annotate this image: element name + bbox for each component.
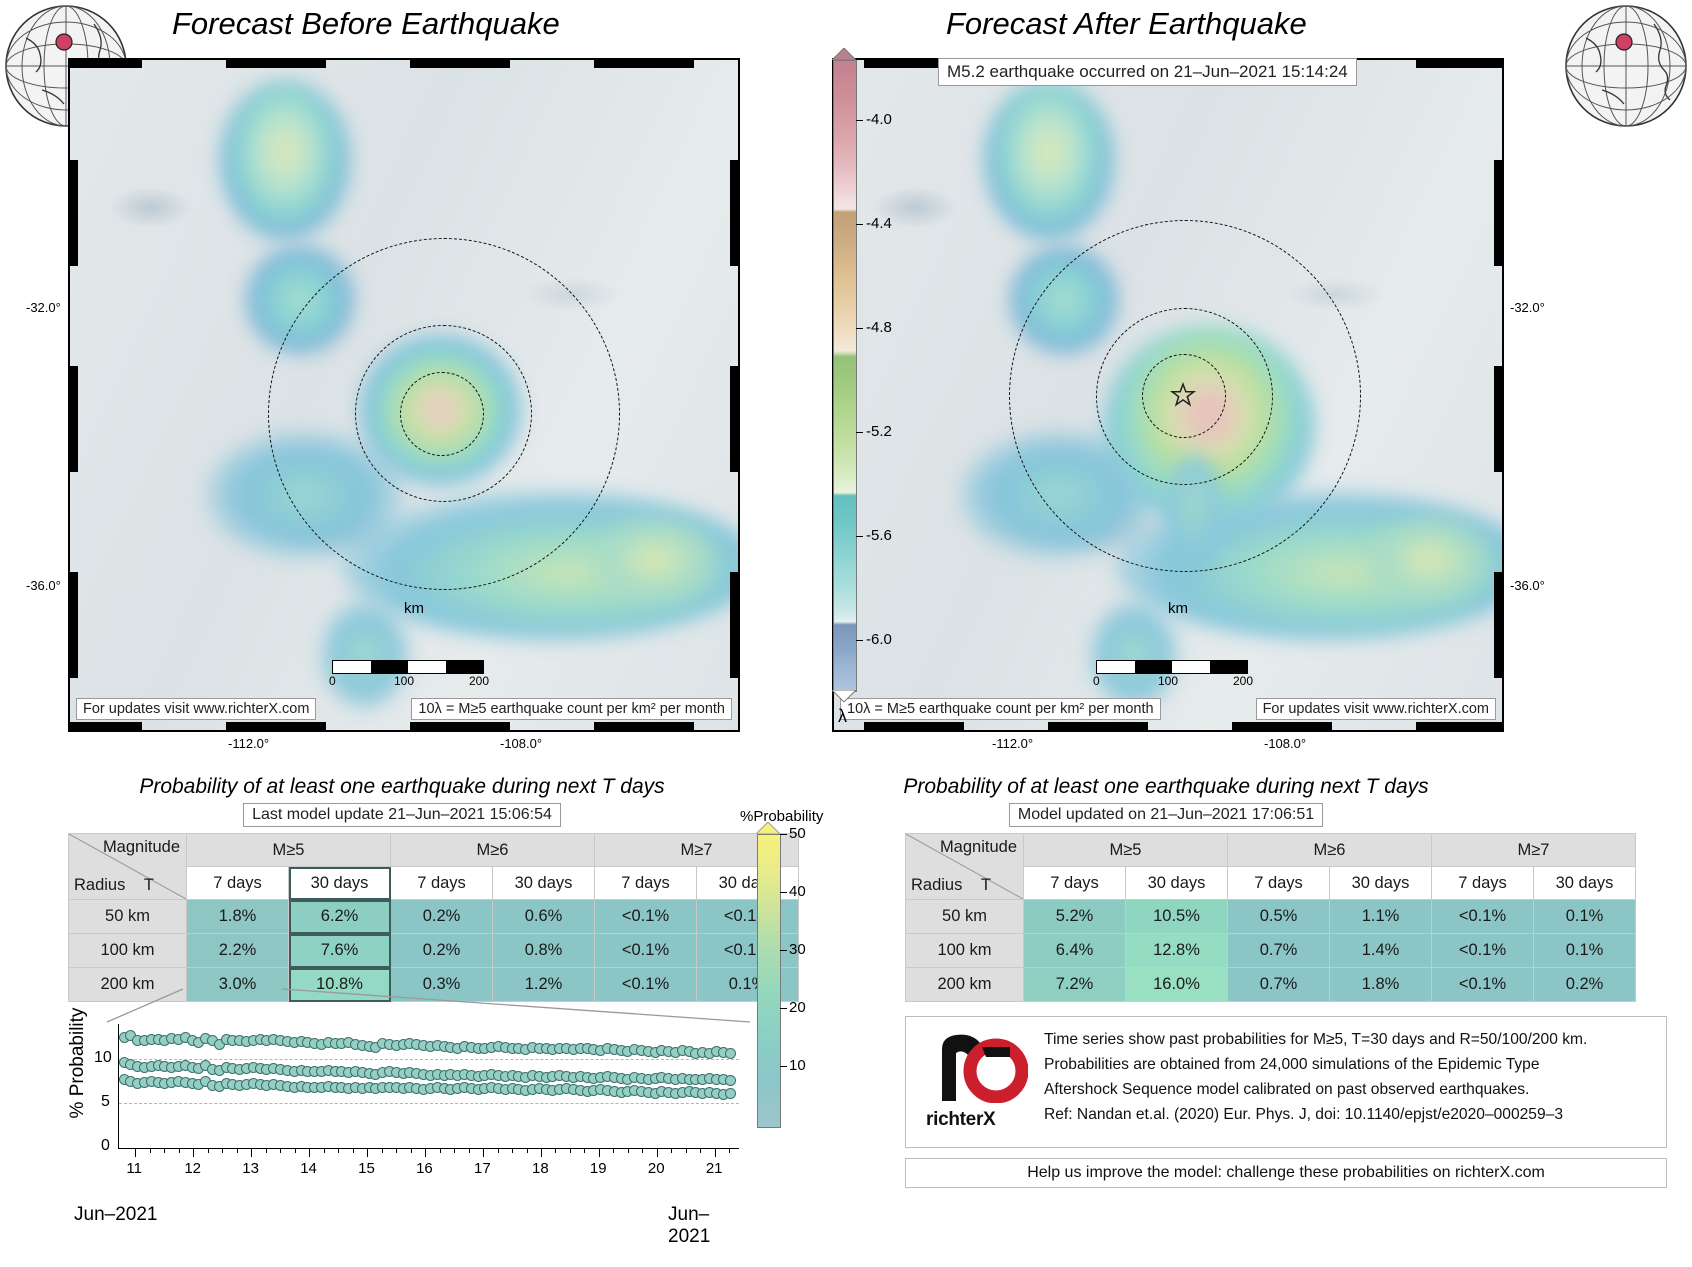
x-tick-layer: 1112131415161718192021 xyxy=(118,1148,738,1184)
prob-cell: <0.1% xyxy=(1432,934,1534,968)
prob-cell: 6.2% xyxy=(289,900,391,934)
time-col-header: 7 days xyxy=(595,867,697,900)
x-minor-tick xyxy=(613,1148,614,1153)
frame-tick-left xyxy=(70,160,78,266)
x-minor-tick xyxy=(440,1148,441,1153)
x-tick-label: 11 xyxy=(126,1160,142,1177)
y-tick-5: 5 xyxy=(101,1093,110,1111)
magnitude-group-m6: M≥6 xyxy=(391,834,595,867)
time-col-header: 30 days xyxy=(289,867,391,900)
prob-cell: 0.5% xyxy=(1228,900,1330,934)
frame-tick-top xyxy=(70,60,142,68)
lat-label-right-32: -32.0° xyxy=(1510,300,1545,315)
timeseries-point xyxy=(725,1088,736,1099)
x-tick-label: 16 xyxy=(416,1160,433,1177)
frame-tick-right xyxy=(1494,160,1502,266)
x-major-tick xyxy=(483,1148,484,1157)
hazard-blob xyxy=(590,515,720,605)
timeseries-dots-layer xyxy=(119,1024,739,1148)
colorbar-tick-label: -6.0 xyxy=(866,631,892,648)
table-row: 50 km 1.8% 6.2% 0.2% 0.6% <0.1% <0.1% xyxy=(69,900,799,934)
table-row: 50 km 5.2% 10.5% 0.5% 1.1% <0.1% 0.1% xyxy=(906,900,1636,934)
frame-tick-left xyxy=(70,366,78,472)
frame-tick-right xyxy=(1494,366,1502,472)
prob-colorbar-top-arrow xyxy=(756,822,780,834)
hazard-blob xyxy=(220,80,350,240)
prob-tick xyxy=(780,1066,787,1067)
radius-circle-200km xyxy=(268,238,620,590)
frame-tick-bottom xyxy=(864,722,964,730)
x-minor-tick xyxy=(498,1148,499,1153)
frame-tick-bottom xyxy=(226,722,326,730)
frame-tick-right xyxy=(1494,572,1502,678)
table-header-row: Magnitude Radius T M≥5 M≥6 M≥7 xyxy=(906,834,1636,867)
x-minor-tick xyxy=(411,1148,412,1153)
info-line-1: Time series show past probabilities for … xyxy=(1044,1027,1587,1052)
prob-tick-label: 20 xyxy=(789,999,806,1016)
corner-magnitude-label: Magnitude xyxy=(940,838,1017,857)
left-panel-title: Forecast Before Earthquake xyxy=(172,6,560,42)
table-header-row: Magnitude Radius T M≥5 M≥6 M≥7 xyxy=(69,834,799,867)
x-minor-tick xyxy=(382,1148,383,1153)
corner-t-label: T xyxy=(981,876,991,895)
lon-label-right-108: -108.0° xyxy=(1264,736,1306,751)
x-major-tick xyxy=(541,1148,542,1157)
prob-cell: <0.1% xyxy=(697,900,799,934)
x-minor-tick xyxy=(164,1148,165,1153)
time-col-header: 7 days xyxy=(1024,867,1126,900)
prob-cell: 0.6% xyxy=(493,900,595,934)
colorbar-tick xyxy=(856,536,863,537)
help-box[interactable]: Help us improve the model: challenge the… xyxy=(905,1158,1667,1188)
prob-tick-label: 30 xyxy=(789,941,806,958)
scale-tick-200: 200 xyxy=(469,674,489,688)
scale-bar-title: km xyxy=(404,600,424,617)
forecast-map-before[interactable]: km 0 100 200 For updates visit www.richt… xyxy=(68,58,740,732)
left-update-box-wrap: Last model update 21–Jun–2021 15:06:54 xyxy=(68,803,736,827)
prob-cell: 1.4% xyxy=(1330,934,1432,968)
y-tick-10: 10 xyxy=(94,1049,112,1067)
time-col-header: 7 days xyxy=(187,867,289,900)
x-major-tick xyxy=(135,1148,136,1157)
time-col-header: 7 days xyxy=(1432,867,1534,900)
prob-cell: <0.1% xyxy=(1432,968,1534,1002)
left-table-section-title: Probability of at least one earthquake d… xyxy=(68,775,736,799)
right-panel-title: Forecast After Earthquake xyxy=(946,6,1307,42)
event-banner: M5.2 earthquake occurred on 21–Jun–2021 … xyxy=(938,58,1357,86)
lon-label-left-112: -112.0° xyxy=(228,736,269,751)
x-minor-tick xyxy=(555,1148,556,1153)
frame-tick-top xyxy=(410,60,510,68)
prob-cell: 0.7% xyxy=(1228,968,1330,1002)
time-col-header: 30 days xyxy=(697,867,799,900)
left-update-box: Last model update 21–Jun–2021 15:06:54 xyxy=(243,803,561,827)
x-minor-tick xyxy=(295,1148,296,1153)
magnitude-group-m5: M≥5 xyxy=(187,834,391,867)
frame-tick-right xyxy=(730,366,738,472)
prob-cell: 16.0% xyxy=(1126,968,1228,1002)
x-major-tick xyxy=(599,1148,600,1157)
prob-tick-label: 50 xyxy=(789,825,806,842)
time-col-header: 30 days xyxy=(1330,867,1432,900)
row-radius-label: 50 km xyxy=(906,900,1024,934)
x-minor-tick xyxy=(686,1148,687,1153)
x-minor-tick xyxy=(454,1148,455,1153)
x-major-tick xyxy=(425,1148,426,1157)
frame-tick-bottom xyxy=(70,722,142,730)
row-radius-label: 100 km xyxy=(906,934,1024,968)
x-minor-tick xyxy=(324,1148,325,1153)
prob-cell: 0.2% xyxy=(1534,968,1636,1002)
lat-label-right-36: -36.0° xyxy=(1510,578,1545,593)
scale-bar-title: km xyxy=(1168,600,1188,617)
scale-bar xyxy=(1096,660,1248,674)
colorbar-tick-label: -5.6 xyxy=(866,527,892,544)
x-major-tick xyxy=(367,1148,368,1157)
prob-colorbar xyxy=(757,834,781,1128)
colorbar-tick xyxy=(856,120,863,121)
frame-tick-right xyxy=(730,572,738,678)
info-line-3: Aftershock Sequence model calibrated on … xyxy=(1044,1077,1529,1102)
table-row: 100 km 6.4% 12.8% 0.7% 1.4% <0.1% 0.1% xyxy=(906,934,1636,968)
x-major-tick xyxy=(309,1148,310,1157)
x-major-tick xyxy=(251,1148,252,1157)
x-minor-tick xyxy=(150,1148,151,1153)
x-minor-tick xyxy=(584,1148,585,1153)
x-axis-label-right: Jun–2021 xyxy=(668,1204,746,1248)
time-col-header: 30 days xyxy=(493,867,595,900)
lon-label-right-112: -112.0° xyxy=(992,736,1033,751)
prob-cell: 1.1% xyxy=(1330,900,1432,934)
prob-cell: 0.7% xyxy=(1228,934,1330,968)
scale-tick-0: 0 xyxy=(329,674,336,688)
prob-cell: 0.2% xyxy=(391,900,493,934)
right-table-section-title: Probability of at least one earthquake d… xyxy=(832,775,1500,799)
prob-cell: <0.1% xyxy=(1432,900,1534,934)
colorbar-tick-label: -4.4 xyxy=(866,215,892,232)
frame-tick-right xyxy=(730,160,738,266)
x-minor-tick xyxy=(700,1148,701,1153)
right-probability-table[interactable]: Magnitude Radius T M≥5 M≥6 M≥7 7 days 30… xyxy=(905,833,1636,1002)
prob-colorbar-title: %Probability xyxy=(740,808,823,825)
x-major-tick xyxy=(193,1148,194,1157)
colorbar-tick xyxy=(856,640,863,641)
frame-tick-bottom xyxy=(1232,722,1332,730)
rate-legend-note-left: 10λ = M≥5 earthquake count per km² per m… xyxy=(411,698,732,720)
time-col-header: 7 days xyxy=(391,867,493,900)
corner-t-label: T xyxy=(144,876,154,895)
x-tick-label: 18 xyxy=(532,1160,549,1177)
x-minor-tick xyxy=(469,1148,470,1153)
prob-tick-label: 40 xyxy=(789,883,806,900)
lon-label-left-108: -108.0° xyxy=(500,736,542,751)
richterx-logo xyxy=(934,1031,1028,1108)
frame-tick-top xyxy=(1416,60,1502,68)
x-tick-label: 12 xyxy=(184,1160,201,1177)
frame-tick-top xyxy=(594,60,694,68)
colorbar-tick xyxy=(856,224,863,225)
plot-area xyxy=(118,1024,739,1149)
x-minor-tick xyxy=(671,1148,672,1153)
x-minor-tick xyxy=(208,1148,209,1153)
x-minor-tick xyxy=(222,1148,223,1153)
y-tick-0: 0 xyxy=(101,1137,110,1155)
info-line-4: Ref: Nandan et.al. (2020) Eur. Phys. J, … xyxy=(1044,1102,1563,1127)
time-col-header: 30 days xyxy=(1126,867,1228,900)
info-box: richterX Time series show past probabili… xyxy=(905,1016,1667,1148)
x-tick-label: 19 xyxy=(590,1160,607,1177)
magnitude-group-m5: M≥5 xyxy=(1024,834,1228,867)
x-minor-tick xyxy=(237,1148,238,1153)
lat-label-left-36: -36.0° xyxy=(26,578,61,593)
magnitude-group-m7: M≥7 xyxy=(1432,834,1636,867)
colorbar-top-arrow xyxy=(832,48,856,60)
colorbar-tick-label: -5.2 xyxy=(866,423,892,440)
right-update-box: Model updated on 21–Jun–2021 17:06:51 xyxy=(1009,803,1323,827)
x-minor-tick xyxy=(512,1148,513,1153)
x-minor-tick xyxy=(570,1148,571,1153)
right-update-box-wrap: Model updated on 21–Jun–2021 17:06:51 xyxy=(832,803,1500,827)
x-tick-label: 17 xyxy=(474,1160,491,1177)
scale-tick-0: 0 xyxy=(1093,674,1100,688)
x-major-tick xyxy=(715,1148,716,1157)
timeseries-point xyxy=(725,1075,736,1086)
x-tick-label: 13 xyxy=(242,1160,259,1177)
frame-tick-bottom xyxy=(1416,722,1502,730)
info-line-2: Probabilities are obtained from 24,000 s… xyxy=(1044,1052,1540,1077)
colorbar-tick-label: -4.0 xyxy=(866,111,892,128)
frame-tick-bottom xyxy=(1048,722,1148,730)
y-axis-label: % Probability xyxy=(67,983,89,1143)
prob-cell: 7.2% xyxy=(1024,968,1126,1002)
x-minor-tick xyxy=(628,1148,629,1153)
magnitude-group-m6: M≥6 xyxy=(1228,834,1432,867)
x-minor-tick xyxy=(266,1148,267,1153)
x-minor-tick xyxy=(729,1148,730,1153)
time-col-header: 30 days xyxy=(1534,867,1636,900)
prob-tick xyxy=(780,950,787,951)
prob-tick-label: 10 xyxy=(789,1057,806,1074)
scale-tick-100: 100 xyxy=(1158,674,1178,688)
x-minor-tick xyxy=(280,1148,281,1153)
row-radius-label: 200 km xyxy=(906,968,1024,1002)
lat-label-left-32: -32.0° xyxy=(26,300,61,315)
colorbar-tick-label: -4.8 xyxy=(866,319,892,336)
hazard-blob xyxy=(320,600,410,710)
updates-note-right: For updates visit www.richterX.com xyxy=(1256,698,1496,720)
prob-cell: 5.2% xyxy=(1024,900,1126,934)
frame-tick-left xyxy=(70,572,78,678)
x-minor-tick xyxy=(353,1148,354,1153)
prob-cell: <0.1% xyxy=(595,900,697,934)
corner-radius-label: Radius xyxy=(911,876,962,895)
rate-colorbar xyxy=(833,60,857,692)
x-tick-label: 21 xyxy=(706,1160,723,1177)
richterx-wordmark: richterX xyxy=(926,1109,995,1131)
prob-tick xyxy=(780,892,787,893)
colorbar-tick xyxy=(856,432,863,433)
prob-tick xyxy=(780,834,787,835)
x-minor-tick xyxy=(338,1148,339,1153)
rate-legend-note-right: 10λ = M≥5 earthquake count per km² per m… xyxy=(840,698,1161,720)
prob-cell: 0.1% xyxy=(1534,900,1636,934)
colorbar-bottom-arrow xyxy=(832,690,856,702)
timeseries-point xyxy=(725,1048,736,1059)
x-axis-label-left: Jun–2021 xyxy=(74,1204,157,1226)
table-corner-cell: Magnitude Radius T xyxy=(906,834,1024,900)
prob-cell: 0.1% xyxy=(1534,934,1636,968)
x-minor-tick xyxy=(527,1148,528,1153)
scale-bar xyxy=(332,660,484,674)
forecast-map-after[interactable]: km 0 100 200 10λ = M≥5 earthquake count … xyxy=(832,58,1504,732)
x-tick-label: 14 xyxy=(300,1160,317,1177)
x-minor-tick xyxy=(642,1148,643,1153)
prob-cell: 12.8% xyxy=(1126,934,1228,968)
frame-tick-top xyxy=(226,60,326,68)
updates-note-left: For updates visit www.richterX.com xyxy=(76,698,316,720)
corner-magnitude-label: Magnitude xyxy=(103,838,180,857)
prob-cell: 1.8% xyxy=(1330,968,1432,1002)
colorbar-tick xyxy=(856,328,863,329)
prob-cell: 10.5% xyxy=(1126,900,1228,934)
colorbar-symbol-lambda: λ xyxy=(838,706,847,727)
hazard-blob xyxy=(984,80,1114,240)
x-tick-label: 20 xyxy=(648,1160,665,1177)
x-major-tick xyxy=(657,1148,658,1157)
prob-cell: 1.8% xyxy=(187,900,289,934)
prob-cell: 6.4% xyxy=(1024,934,1126,968)
time-col-header: 7 days xyxy=(1228,867,1330,900)
x-minor-tick xyxy=(179,1148,180,1153)
table-row: 200 km 7.2% 16.0% 0.7% 1.8% <0.1% 0.2% xyxy=(906,968,1636,1002)
corner-radius-label: Radius xyxy=(74,876,125,895)
radius-circle-200km xyxy=(1009,220,1361,572)
row-radius-label: 50 km xyxy=(69,900,187,934)
globe-inset-right xyxy=(1562,2,1690,135)
table-corner-cell: Magnitude Radius T xyxy=(69,834,187,900)
hazard-blob xyxy=(1364,515,1494,605)
scale-tick-200: 200 xyxy=(1233,674,1253,688)
hazard-blob xyxy=(1089,600,1179,710)
frame-tick-bottom xyxy=(410,722,510,730)
timeseries-chart[interactable]: % Probability 10 5 0 1112131415161718192… xyxy=(46,1016,746,1256)
prob-tick xyxy=(780,1008,787,1009)
frame-tick-bottom xyxy=(594,722,694,730)
x-tick-label: 15 xyxy=(358,1160,375,1177)
x-minor-tick xyxy=(396,1148,397,1153)
scale-tick-100: 100 xyxy=(394,674,414,688)
